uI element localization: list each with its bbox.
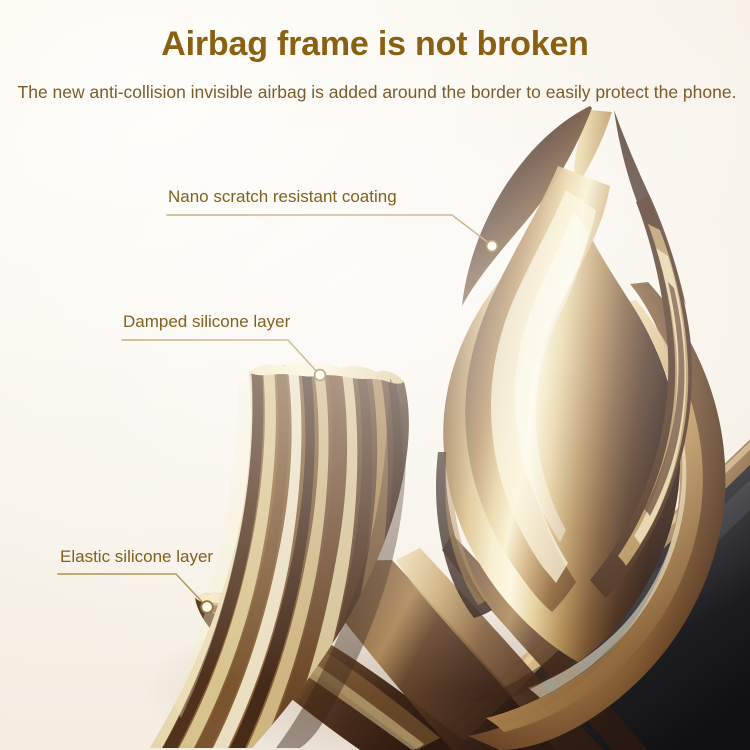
leader-line-elastic-silicone	[58, 574, 205, 605]
callout-label-nano-coating: Nano scratch resistant coating	[168, 188, 397, 205]
page-subtitle: The new anti-collision invisible airbag …	[8, 80, 746, 105]
callout-dot-damped-silicone	[315, 370, 326, 381]
page-title: Airbag frame is not broken	[0, 26, 750, 63]
callout-dot-elastic-silicone	[201, 601, 213, 613]
callout-label-elastic-silicone: Elastic silicone layer	[60, 548, 213, 565]
leader-line-nano-coating	[167, 215, 490, 244]
infographic-canvas: Airbag frame is not broken The new anti-…	[0, 0, 750, 750]
callout-label-damped-silicone: Damped silicone layer	[123, 313, 290, 330]
callout-dot-nano-coating	[487, 241, 498, 252]
product-artwork	[0, 0, 750, 750]
